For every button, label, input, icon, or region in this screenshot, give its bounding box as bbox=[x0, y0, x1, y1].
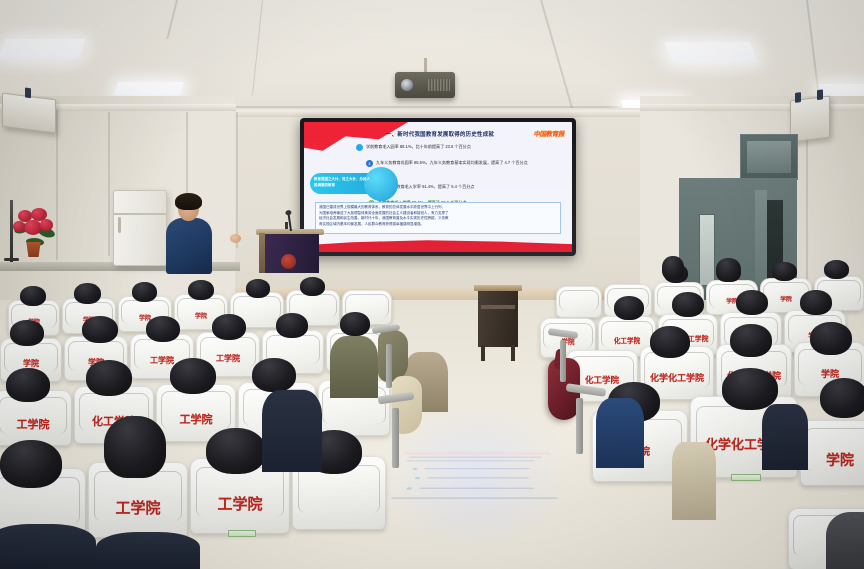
seat-support-pole bbox=[576, 398, 583, 454]
audience-head bbox=[146, 316, 180, 342]
audience-head bbox=[212, 314, 246, 340]
bullet-text: 九年义务教育巩固率 95.5%，九年义务教育基本实现均衡发展，提高了 4.7 个… bbox=[376, 160, 528, 166]
seat-support-pole bbox=[560, 340, 566, 382]
reflection-band bbox=[403, 452, 552, 455]
projector-vent bbox=[428, 79, 450, 91]
seat-support-pole bbox=[392, 408, 399, 468]
wall-seam bbox=[236, 112, 238, 248]
seat-seam bbox=[559, 290, 600, 311]
callout-text: 教育是国之大计、党之大计，办好人民满意的教育 bbox=[314, 177, 370, 188]
audience-head bbox=[276, 313, 308, 338]
seat-cover-text: 化学化工学院 bbox=[640, 371, 714, 384]
audience-head bbox=[0, 440, 62, 488]
table-top bbox=[474, 285, 522, 291]
audience-shoulders bbox=[826, 512, 864, 569]
slide-canvas: 一、新时代我国教育发展取得的历史性成就 中国教育报 学前教育毛入园率 88.1%… bbox=[304, 122, 572, 252]
audience-shoulders bbox=[596, 398, 644, 468]
audience-head bbox=[104, 416, 166, 478]
audience-shoulders bbox=[330, 336, 378, 398]
seat-cover-text: 学院 bbox=[540, 336, 596, 346]
audience-head bbox=[206, 428, 266, 474]
audience-head bbox=[662, 256, 684, 280]
door-transom-window bbox=[740, 134, 798, 180]
wall-seam bbox=[56, 110, 58, 260]
lectern-emblem bbox=[281, 254, 296, 269]
slide-bottom-graphic bbox=[304, 238, 572, 252]
audience-head bbox=[722, 368, 778, 410]
reflection-dot bbox=[412, 468, 418, 470]
bullet-marker-icon bbox=[356, 144, 363, 151]
presenter-hair bbox=[175, 193, 202, 210]
audience-head bbox=[82, 316, 118, 343]
seat-cover-text: 化工学院 bbox=[598, 335, 656, 345]
audience-head bbox=[86, 360, 132, 396]
audience-head bbox=[614, 296, 644, 320]
presenter-hand bbox=[230, 234, 241, 243]
audience-head bbox=[736, 290, 768, 315]
audience-head bbox=[188, 280, 214, 300]
plant-flower bbox=[40, 219, 53, 231]
lecture-hall-photo: 一、新时代我国教育发展取得的历史性成就 中国教育报 学前教育毛入园率 88.1%… bbox=[0, 0, 864, 569]
audience-shoulders bbox=[262, 390, 322, 472]
audience-head bbox=[824, 260, 849, 279]
presenter bbox=[160, 196, 222, 274]
audience-head bbox=[730, 324, 772, 357]
presentation-display[interactable]: 一、新时代我国教育发展取得的历史性成就 中国教育报 学前教育毛入园率 88.1%… bbox=[300, 118, 576, 256]
seat-cover-text: 学院 bbox=[800, 450, 864, 470]
slide-heading: 一、新时代我国教育发展取得的历史性成就 bbox=[386, 130, 536, 138]
reflection-line bbox=[427, 477, 529, 478]
wall-cornice bbox=[236, 110, 640, 117]
slide-callout-shape: 教育是国之大计、党之大计，办好人民满意的教育 bbox=[310, 167, 394, 201]
plant-flower bbox=[13, 221, 25, 232]
side-table bbox=[478, 285, 518, 347]
audience-head bbox=[810, 322, 852, 355]
table-leg bbox=[511, 345, 515, 361]
lectern-side bbox=[259, 233, 265, 273]
speaker-bracket bbox=[795, 92, 801, 103]
audience-head bbox=[772, 262, 797, 281]
audience-head bbox=[246, 279, 270, 298]
table-leg bbox=[481, 345, 485, 361]
plant-stand-foot bbox=[4, 258, 19, 261]
audience-head bbox=[74, 283, 101, 304]
audience-head bbox=[650, 326, 690, 358]
reflection-line bbox=[407, 460, 535, 461]
cabinet-door-split bbox=[114, 213, 166, 215]
reflection-line bbox=[419, 488, 534, 489]
speaker-bracket bbox=[817, 89, 823, 100]
projector-lens-icon bbox=[401, 79, 413, 91]
seat-number-tag bbox=[731, 474, 761, 482]
table-shelf bbox=[481, 305, 515, 309]
seat-cover-text: 工学院 bbox=[0, 416, 72, 432]
reflection-line bbox=[408, 457, 541, 458]
draped-coat bbox=[378, 330, 408, 382]
seat[interactable]: 学院 bbox=[800, 420, 864, 486]
potted-plant-foliage bbox=[12, 208, 56, 246]
lectern bbox=[259, 229, 321, 273]
presenter-torso bbox=[166, 218, 212, 274]
ceiling-light-panel bbox=[665, 42, 758, 62]
seat-cover-text: 工学院 bbox=[190, 493, 290, 514]
white-cabinet bbox=[113, 190, 167, 266]
lectern-front-panel bbox=[261, 234, 319, 273]
audience-head bbox=[820, 378, 864, 418]
audience-head bbox=[300, 277, 325, 296]
audience-shoulders bbox=[762, 404, 808, 470]
seat-cover-text: 工学院 bbox=[88, 497, 188, 518]
reflection-dot bbox=[406, 487, 413, 490]
reflection-line bbox=[391, 497, 559, 498]
ceiling-light-panel bbox=[0, 39, 86, 58]
audience-head bbox=[20, 286, 46, 306]
wall-seam bbox=[108, 112, 110, 256]
ceiling-projector bbox=[395, 72, 455, 98]
audience-head bbox=[800, 290, 832, 315]
audience-head bbox=[252, 358, 296, 392]
slide-logo: 中国教育报 bbox=[534, 128, 566, 138]
slide-bullet: 学前教育毛入园率 88.1%，比十年前提高了 23.6 个百分点 bbox=[356, 144, 516, 151]
door-glass-panel bbox=[699, 214, 715, 286]
audience-head bbox=[10, 320, 44, 346]
audience-shoulders bbox=[0, 524, 96, 569]
audience-head bbox=[170, 358, 216, 394]
audience-head bbox=[672, 292, 704, 317]
seat-support-pole bbox=[386, 344, 392, 388]
wall-speaker-left bbox=[2, 93, 56, 134]
slide-note-box: 我国已建成世界上规模最大的教育体系，教育的总体发展水平跃居世界中上行列， 为国家… bbox=[315, 202, 561, 234]
bullet-text: 学前教育毛入园率 88.1%，比十年前提高了 23.6 个百分点 bbox=[366, 144, 471, 150]
audience-head bbox=[132, 282, 157, 302]
audience-head bbox=[716, 258, 741, 282]
seat-cover-text: 学院 bbox=[794, 367, 864, 380]
reflection-line bbox=[424, 468, 530, 469]
seat-cover-text: 工学院 bbox=[156, 411, 236, 427]
audience-shoulders bbox=[96, 532, 200, 569]
slide-note-line: 育实现区域内基本均衡发展，人民群众教育获得感幸福感明显增强。 bbox=[319, 222, 557, 228]
speaker-bracket bbox=[25, 88, 31, 99]
audience-head bbox=[340, 312, 370, 336]
wall-cornice bbox=[640, 104, 864, 111]
audience-shoulders bbox=[672, 442, 716, 520]
cabinet-handle[interactable] bbox=[118, 217, 121, 233]
seat[interactable] bbox=[556, 286, 602, 318]
seat-number-tag bbox=[228, 530, 256, 537]
audience-head bbox=[6, 368, 50, 402]
reflection-dot bbox=[414, 477, 420, 479]
ceiling-light-panel bbox=[114, 82, 184, 95]
floor-slide-reflection bbox=[374, 451, 580, 509]
